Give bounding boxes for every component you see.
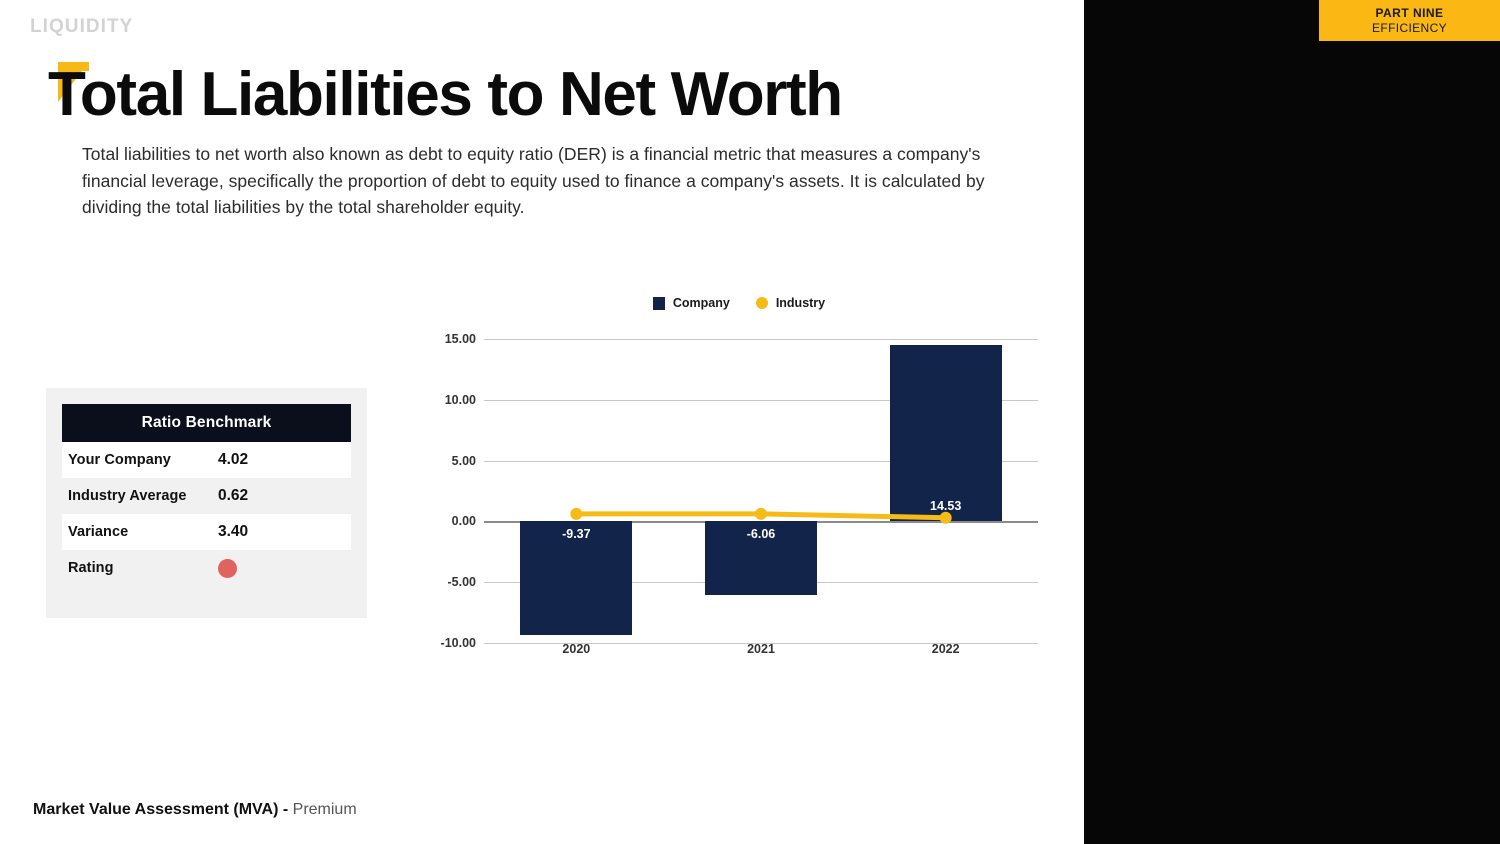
- footer-label: Market Value Assessment (MVA) - Premium: [33, 801, 357, 819]
- row-value: 0.62: [218, 487, 248, 505]
- slide: LIQUIDITY Total Liabilities to Net Worth…: [0, 0, 1500, 844]
- footer-bold: Market Value Assessment (MVA) -: [33, 801, 288, 818]
- table-row: Variance 3.40: [62, 514, 351, 550]
- row-label: Your Company: [68, 452, 218, 468]
- table-row: Rating: [62, 550, 351, 586]
- legend-item-industry: Industry: [756, 296, 825, 310]
- row-label: Variance: [68, 524, 218, 540]
- company-vs-industry-chart: Company Industry 15.0010.005.000.00-5.00…: [424, 296, 1054, 676]
- chart-legend: Company Industry: [424, 296, 1054, 310]
- part-badge-top: PART NINE: [1375, 6, 1443, 20]
- legend-swatch-circle-icon: [756, 297, 768, 309]
- legend-item-company: Company: [653, 296, 730, 310]
- table-row: Industry Average 0.62: [62, 478, 351, 514]
- part-badge: PART NINE EFFICIENCY: [1319, 0, 1500, 41]
- legend-label: Company: [673, 296, 730, 310]
- rating-status-dot-icon: [218, 559, 237, 578]
- row-label: Rating: [68, 560, 218, 576]
- row-value: [218, 559, 237, 578]
- row-value: 4.02: [218, 451, 248, 469]
- main-content: LIQUIDITY Total Liabilities to Net Worth…: [0, 0, 1084, 844]
- row-value: 3.40: [218, 523, 248, 541]
- chart-plot-area: 15.0010.005.000.00-5.00-10.00-9.37-6.061…: [424, 330, 1054, 676]
- ratio-benchmark-table: Ratio Benchmark Your Company 4.02 Indust…: [46, 388, 367, 618]
- table-row: Your Company 4.02: [62, 442, 351, 478]
- industry-line-series: [424, 330, 1054, 676]
- section-eyebrow: LIQUIDITY: [30, 16, 133, 38]
- intro-paragraph: Total liabilities to net worth also know…: [82, 141, 992, 221]
- row-label: Industry Average: [68, 488, 218, 504]
- benchmark-header: Ratio Benchmark: [62, 404, 351, 442]
- legend-label: Industry: [776, 296, 825, 310]
- part-badge-bottom: EFFICIENCY: [1372, 21, 1447, 35]
- page-title: Total Liabilities to Net Worth: [48, 58, 842, 132]
- footer-light: Premium: [288, 801, 356, 818]
- legend-swatch-square-icon: [653, 297, 665, 310]
- sidebar: PART NINE EFFICIENCY Relevance The DER r…: [1084, 0, 1500, 844]
- page-title-block: Total Liabilities to Net Worth: [48, 58, 842, 140]
